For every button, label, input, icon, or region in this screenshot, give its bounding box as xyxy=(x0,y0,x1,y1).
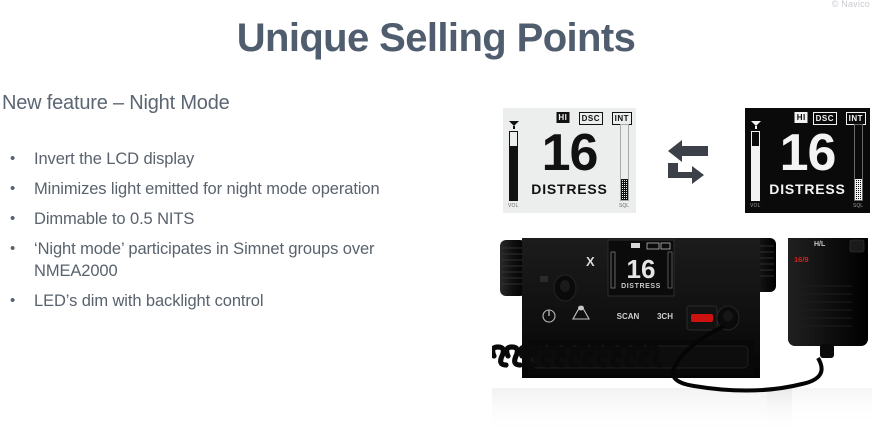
copyright-watermark: © Navico xyxy=(832,0,870,9)
microphone-port[interactable] xyxy=(554,275,576,301)
swap-arrows-icon xyxy=(660,134,716,184)
list-item: • ‘Night mode’ participates in Simnet gr… xyxy=(6,238,454,282)
channel-status-label: DISTRESS xyxy=(745,181,870,197)
radio-face-lcd: 16 DISTRESS xyxy=(608,240,674,296)
squelch-label: SQL xyxy=(853,203,862,209)
feature-bullet-list: • Invert the LCD display • Minimizes lig… xyxy=(6,148,454,320)
list-item: • Dimmable to 0.5 NITS xyxy=(6,208,454,230)
list-item-label: Dimmable to 0.5 NITS xyxy=(34,208,194,230)
list-item-label: Minimizes light emitted for night mode o… xyxy=(34,178,380,200)
bullet-marker-icon: • xyxy=(6,290,34,312)
mic-16-9-label: 16/9 xyxy=(794,255,809,264)
squelch-label: SQL xyxy=(619,203,628,209)
lcd-display-day-mode: HI DSC INT VOL 16 DISTRESS SQL xyxy=(503,108,636,213)
bullet-marker-icon: • xyxy=(6,208,34,230)
volume-label: VOL xyxy=(508,203,517,209)
list-item-label: LED’s dim with backlight control xyxy=(34,290,263,312)
3ch-button[interactable]: 3CH xyxy=(657,312,673,321)
bullet-marker-icon: • xyxy=(6,148,34,170)
list-item: • Minimizes light emitted for night mode… xyxy=(6,178,454,200)
handheld-microphone[interactable]: H/L 16/9 xyxy=(788,238,868,358)
channel-number: 16 xyxy=(745,125,870,181)
squelch-bar-night: SQL xyxy=(853,120,865,208)
channel-status-label: DISTRESS xyxy=(503,181,636,197)
brand-x-logo: X xyxy=(586,254,595,269)
list-item-label: Invert the LCD display xyxy=(34,148,194,170)
face-lcd-channel-number: 16 xyxy=(627,254,656,284)
channel-number: 16 xyxy=(503,125,636,181)
volume-label: VOL xyxy=(750,203,759,209)
face-lcd-status-label: DISTRESS xyxy=(621,283,661,290)
list-item: • Invert the LCD display xyxy=(6,148,454,170)
distress-key-cover[interactable] xyxy=(687,306,717,330)
indicator-hi-badge: HI xyxy=(556,112,569,123)
bullet-marker-icon: • xyxy=(6,178,34,200)
page-title: Unique Selling Points xyxy=(0,16,872,61)
brand-mark xyxy=(540,276,548,282)
scan-button[interactable]: SCAN xyxy=(617,312,640,321)
product-reflection xyxy=(492,388,872,436)
radio-product-image: X 16 DISTRESS SCAN 3CH xyxy=(492,228,872,446)
section-subtitle: New feature – Night Mode xyxy=(2,92,230,115)
lcd-display-night-mode: HI DSC INT VOL 16 DISTRESS SQL xyxy=(745,108,870,213)
squelch-bar-day: SQL xyxy=(619,120,631,208)
mic-hl-label: H/L xyxy=(814,241,826,248)
list-item: • LED’s dim with backlight control xyxy=(6,290,454,312)
list-item-label: ‘Night mode’ participates in Simnet grou… xyxy=(34,238,434,282)
indicator-hi-badge: HI xyxy=(795,112,808,123)
bullet-marker-icon: • xyxy=(6,238,34,260)
